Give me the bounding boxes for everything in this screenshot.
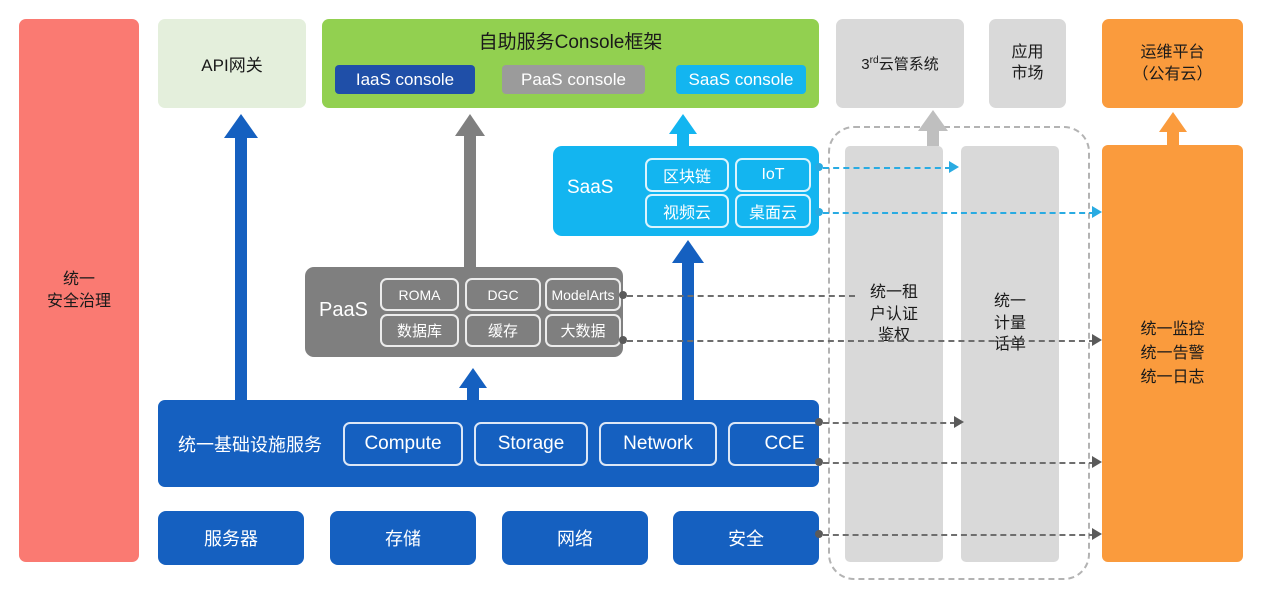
- paas-label: PaaS: [319, 299, 368, 322]
- connector-paas-to-tenant: [627, 295, 855, 297]
- paas-layer-box: PaaS ROMA DGC ModelArts 数据库 缓存 大数据: [305, 267, 623, 357]
- connector-hardware-to-ops: [823, 534, 1095, 536]
- ops-platform-line-2: （公有云）: [1132, 64, 1212, 86]
- ops-capabilities-panel: 统一监控 统一告警 统一日志: [1102, 145, 1243, 562]
- connector-dot-paas-bottom: [619, 336, 627, 344]
- paas-item-bigdata[interactable]: 大数据: [545, 314, 621, 347]
- hardware-item-storage[interactable]: 存储: [330, 511, 476, 565]
- paas-item-roma[interactable]: ROMA: [380, 278, 459, 311]
- ops-line-1: 统一监控: [1140, 318, 1204, 342]
- infra-item-cce[interactable]: CCE: [728, 422, 841, 466]
- unified-metering-column: 统一 计量 话单: [961, 146, 1059, 562]
- connector-saas-to-ops: [823, 212, 1095, 214]
- metering-line-1: 统一: [961, 291, 1059, 313]
- unified-tenant-auth-column: 统一租 户认证 鉴权: [845, 146, 943, 562]
- connector-arrowhead-paas-ops: [1092, 334, 1102, 346]
- saas-label: SaaS: [567, 177, 613, 199]
- connector-dot-saas-top: [815, 163, 823, 171]
- third-party-label: 3rd云管系统: [861, 53, 938, 74]
- arrow-paas-to-console: [455, 114, 485, 269]
- infra-item-network[interactable]: Network: [599, 422, 717, 466]
- connector-infra-to-metering: [823, 422, 956, 424]
- metering-line-3: 话单: [961, 334, 1059, 356]
- arrow-infra-to-saas: [672, 240, 704, 402]
- hardware-item-server[interactable]: 服务器: [158, 511, 304, 565]
- connector-dot-infra-top: [815, 418, 823, 426]
- hardware-item-security[interactable]: 安全: [673, 511, 819, 565]
- paas-item-modelarts[interactable]: ModelArts: [545, 278, 621, 311]
- saas-item-iot[interactable]: IoT: [735, 158, 811, 192]
- third-party-suffix: 云管系统: [879, 56, 939, 73]
- api-gateway-label: API网关: [201, 51, 262, 76]
- connector-dot-hardware: [815, 530, 823, 538]
- connector-dot-infra-bottom: [815, 458, 823, 466]
- connector-saas-to-tenant: [823, 167, 951, 169]
- saas-layer-box: SaaS 区块链 IoT 视频云 桌面云: [553, 146, 819, 236]
- saas-item-desktop-cloud[interactable]: 桌面云: [735, 194, 811, 228]
- connector-paas-to-ops: [627, 340, 1095, 342]
- governance-line-1: 统一: [47, 269, 111, 291]
- unified-infrastructure-service-box: 统一基础设施服务 Compute Storage Network CCE: [158, 400, 819, 487]
- app-market-line-2: 市场: [1011, 64, 1043, 85]
- ops-line-3: 统一日志: [1140, 366, 1204, 390]
- ops-line-2: 统一告警: [1140, 342, 1204, 366]
- arrow-ops-bar-to-ops-platform: [1159, 112, 1187, 146]
- console-title: 自助服务Console框架: [322, 27, 819, 54]
- connector-arrowhead-saas-ops: [1092, 206, 1102, 218]
- api-gateway-box: API网关: [158, 19, 306, 108]
- connector-arrowhead-infra-ops: [1092, 456, 1102, 468]
- third-party-prefix: 3: [861, 56, 869, 73]
- infra-item-compute[interactable]: Compute: [343, 422, 463, 466]
- arrow-shared-to-third-party: [918, 110, 948, 146]
- connector-arrowhead-hardware-ops: [1092, 528, 1102, 540]
- infrastructure-label: 统一基础设施服务: [178, 431, 322, 457]
- connector-dot-saas-bottom: [815, 208, 823, 216]
- governance-line-2: 安全治理: [47, 291, 111, 313]
- arrow-infra-to-api-gateway: [224, 114, 258, 402]
- connector-dot-paas-top: [619, 291, 627, 299]
- third-party-cloud-management-box: 3rd云管系统: [836, 19, 964, 108]
- ops-platform-box: 运维平台 （公有云）: [1102, 19, 1243, 108]
- paas-item-dgc[interactable]: DGC: [465, 278, 541, 311]
- tenant-line-3: 鉴权: [845, 325, 943, 347]
- hardware-item-network[interactable]: 网络: [502, 511, 648, 565]
- metering-line-2: 计量: [961, 313, 1059, 335]
- paas-item-cache[interactable]: 缓存: [465, 314, 541, 347]
- connector-infra-to-ops: [823, 462, 1095, 464]
- ops-platform-line-1: 运维平台: [1132, 42, 1212, 64]
- paas-console-button[interactable]: PaaS console: [502, 65, 645, 94]
- saas-item-video-cloud[interactable]: 视频云: [645, 194, 729, 228]
- paas-item-database[interactable]: 数据库: [380, 314, 459, 347]
- third-party-superscript: rd: [870, 55, 879, 66]
- unified-security-governance-panel: 统一 安全治理: [19, 19, 139, 562]
- app-market-box: 应用 市场: [989, 19, 1066, 108]
- connector-arrowhead-infra-metering: [954, 416, 964, 428]
- self-service-console-framework: 自助服务Console框架 IaaS console PaaS console …: [322, 19, 819, 108]
- tenant-line-2: 户认证: [845, 304, 943, 326]
- connector-arrowhead-saas-tenant: [949, 161, 959, 173]
- iaas-console-button[interactable]: IaaS console: [335, 65, 475, 94]
- saas-console-button[interactable]: SaaS console: [676, 65, 806, 94]
- arrow-saas-to-console: [669, 114, 697, 148]
- arrow-infra-to-paas: [459, 368, 487, 402]
- saas-item-blockchain[interactable]: 区块链: [645, 158, 729, 192]
- infra-item-storage[interactable]: Storage: [474, 422, 588, 466]
- app-market-line-1: 应用: [1011, 43, 1043, 64]
- tenant-line-1: 统一租: [845, 282, 943, 304]
